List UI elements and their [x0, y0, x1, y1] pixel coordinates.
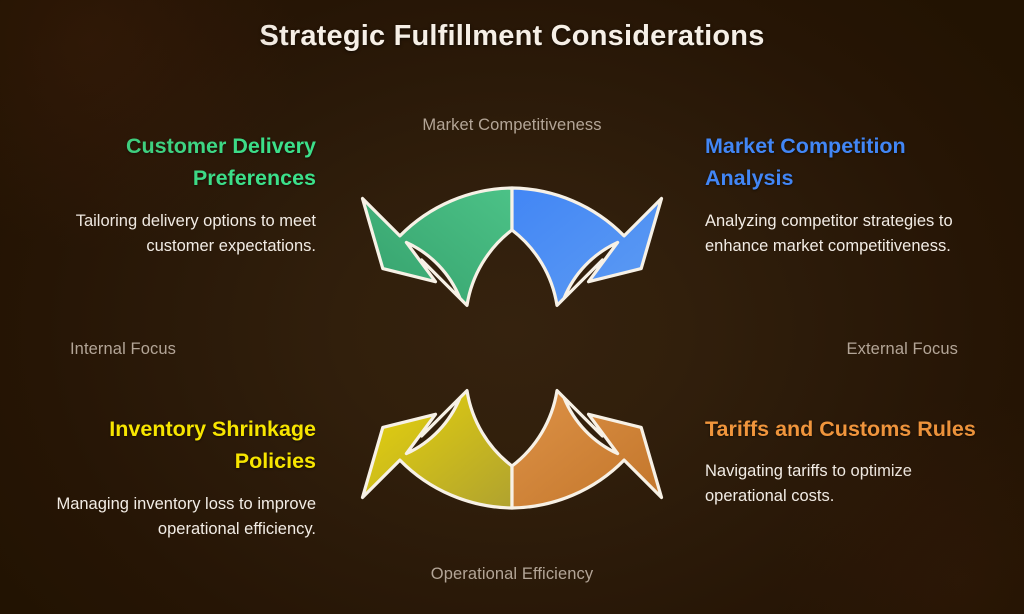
quadrant-top-right: Market Competition Analysis Analyzing co…: [705, 130, 993, 259]
axis-label-right: External Focus: [847, 340, 958, 359]
quadrant-title-inventory-shrinkage-policies: Inventory Shrinkage Policies: [28, 413, 316, 478]
cycle-arrow-yellow: [363, 391, 513, 508]
page-title: Strategic Fulfillment Considerations: [0, 20, 1024, 53]
infographic-canvas: Strategic Fulfillment Considerations Mar…: [0, 0, 1024, 614]
axis-label-left: Internal Focus: [70, 340, 176, 359]
quadrant-title-tariffs-and-customs-rules: Tariffs and Customs Rules: [705, 413, 993, 445]
cycle-arrow-svg: [332, 168, 692, 528]
quadrant-bottom-left: Inventory Shrinkage Policies Managing in…: [28, 413, 316, 542]
cycle-segment-orange: [512, 391, 662, 508]
cycle-arrow-blue: [512, 188, 662, 305]
quadrant-title-customer-delivery-preferences: Customer Delivery Preferences: [28, 130, 316, 195]
cycle-segment-blue: [512, 188, 662, 305]
quadrant-description-inventory-shrinkage-policies: Managing inventory loss to improve opera…: [28, 492, 316, 542]
quadrant-title-market-competition-analysis: Market Competition Analysis: [705, 130, 993, 195]
quadrant-description-customer-delivery-preferences: Tailoring delivery options to meet custo…: [28, 209, 316, 259]
quadrant-bottom-right: Tariffs and Customs Rules Navigating tar…: [705, 413, 993, 509]
cycle-segment-yellow: [363, 391, 513, 508]
axis-label-bottom: Operational Efficiency: [0, 565, 1024, 584]
quadrant-description-market-competition-analysis: Analyzing competitor strategies to enhan…: [705, 209, 993, 259]
cycle-arrow-green: [363, 188, 513, 305]
cycle-arrow-orange: [512, 391, 662, 508]
quadrant-description-tariffs-and-customs-rules: Navigating tariffs to optimize operation…: [705, 459, 993, 509]
cycle-arrow-diagram: [332, 168, 692, 528]
quadrant-top-left: Customer Delivery Preferences Tailoring …: [28, 130, 316, 259]
cycle-segment-green: [363, 188, 513, 305]
